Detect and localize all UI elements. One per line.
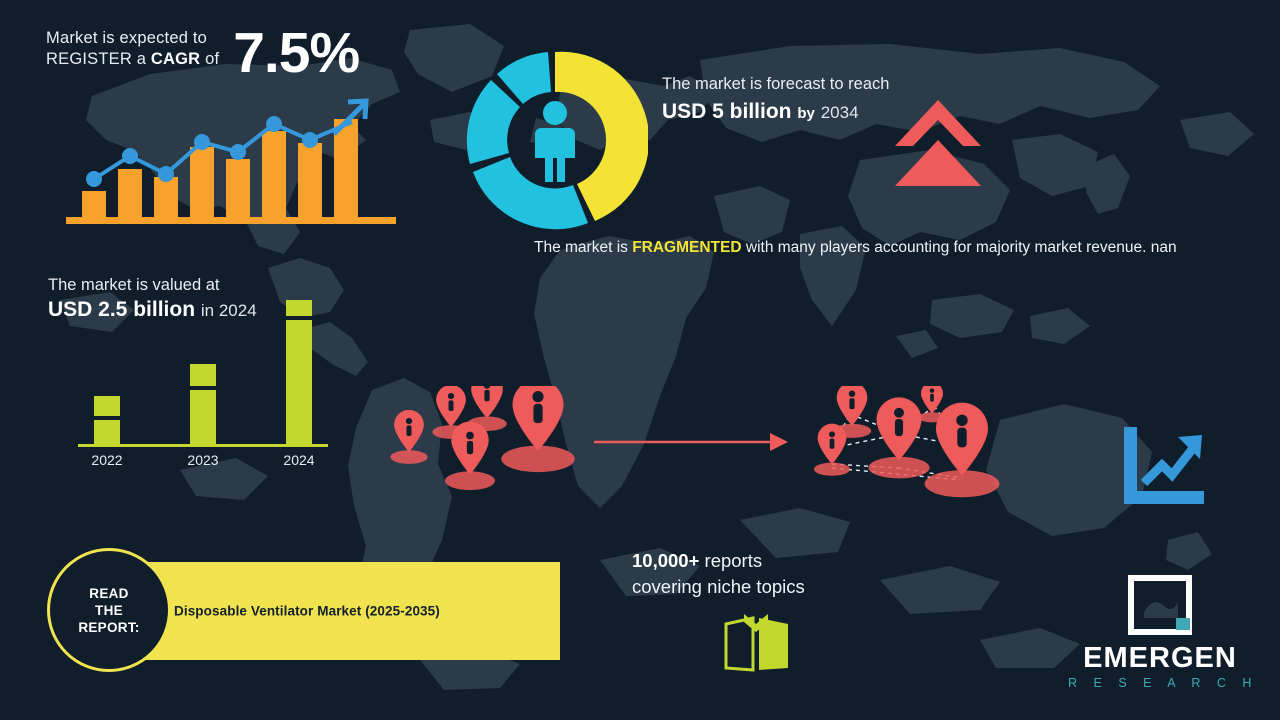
fragmented-pre: The market is: [534, 239, 632, 256]
lime-bar-chart-icon: 2022 2023 2024: [78, 292, 334, 472]
read-line-3: REPORT:: [78, 620, 139, 635]
bar-label-2022: 2022: [91, 452, 122, 468]
growth-chart-baseline: [66, 217, 396, 224]
fragmented-post: with many players accounting for majorit…: [742, 239, 1177, 256]
open-book-icon: [722, 612, 792, 674]
square-bracket-mark-icon: [1124, 572, 1196, 638]
donut-slice-cyan-1: [473, 157, 588, 229]
donut-chart-person-icon: [462, 47, 648, 233]
connected-map-pin-network-icon: [802, 386, 1018, 500]
forecast-by-label: by: [797, 105, 815, 122]
map-pin-small-1: [390, 410, 427, 464]
read-line-2: THE: [95, 603, 123, 618]
reports-word: reports: [699, 550, 762, 571]
lime-chart-baseline: [78, 444, 328, 447]
cagr-line-2-post: of: [200, 50, 219, 68]
cagr-block: Market is expected to REGISTER a CAGR of…: [46, 22, 466, 84]
cagr-line-2: REGISTER a CAGR of: [46, 49, 219, 70]
report-title: Disposable Ventilator Market (2025-2035): [174, 604, 440, 619]
forecast-year: 2034: [821, 103, 859, 122]
emergen-research-logo: EMERGEN R E S E A R C H: [1062, 572, 1258, 692]
double-chevron-up-icon: [893, 96, 983, 190]
network-pin-4: [868, 397, 929, 478]
growth-chart-bars: [82, 119, 358, 219]
read-the-report-badge[interactable]: READTHEREPORT:: [47, 548, 171, 672]
bar-2023: [190, 364, 216, 444]
reports-count: 10,000+: [632, 550, 699, 571]
logo-subtitle: R E S E A R C H: [1062, 674, 1258, 692]
bar-2024-divider: [286, 316, 312, 320]
cagr-label: Market is expected to REGISTER a CAGR of: [46, 22, 219, 70]
bar-label-2024: 2024: [283, 452, 314, 468]
person-icon: [535, 101, 575, 182]
reports-line-2: covering niche topics: [632, 574, 892, 600]
reports-count-block: 10,000+ reports covering niche topics: [632, 548, 892, 600]
infographic-canvas: Market is expected to REGISTER a CAGR of…: [0, 0, 1280, 720]
donut-slice-cyan-2: [467, 80, 520, 164]
network-pin-3: [814, 424, 850, 476]
right-arrow-icon: [592, 428, 792, 456]
trend-line: [1144, 447, 1194, 483]
trend-up-chart-icon: [1118, 425, 1210, 507]
bar-2024: [286, 300, 312, 444]
growth-chart-icon: [62, 86, 412, 226]
read-report-banner[interactable]: Disposable Ventilator Market (2025-2035): [130, 562, 560, 660]
fragmented-statement: The market is FRAGMENTED with many playe…: [534, 236, 1214, 259]
forecast-value: USD 5 billion: [662, 100, 792, 123]
cagr-line-1: Market is expected to: [46, 28, 219, 49]
cagr-keyword: CAGR: [151, 50, 200, 68]
reports-line-1: 10,000+ reports: [632, 548, 892, 574]
read-line-1: READ: [89, 586, 128, 601]
map-pin-large: [501, 386, 574, 472]
bar-2023-divider: [190, 386, 216, 390]
chevron-up-bottom: [895, 140, 981, 186]
forecast-line-1: The market is forecast to reach: [662, 73, 992, 95]
chevron-up-top: [895, 100, 981, 146]
bar-2022-divider: [94, 416, 120, 420]
fragmented-highlight: FRAGMENTED: [632, 239, 741, 256]
lime-bars: [94, 300, 312, 444]
cagr-value: 7.5%: [233, 22, 359, 84]
map-pin-cluster-icon: [382, 386, 602, 496]
logo-wordmark: EMERGEN: [1062, 642, 1258, 674]
cagr-line-2-pre: REGISTER a: [46, 50, 151, 68]
bar-label-2023: 2023: [187, 452, 218, 468]
read-report-label: READTHEREPORT:: [78, 585, 139, 636]
